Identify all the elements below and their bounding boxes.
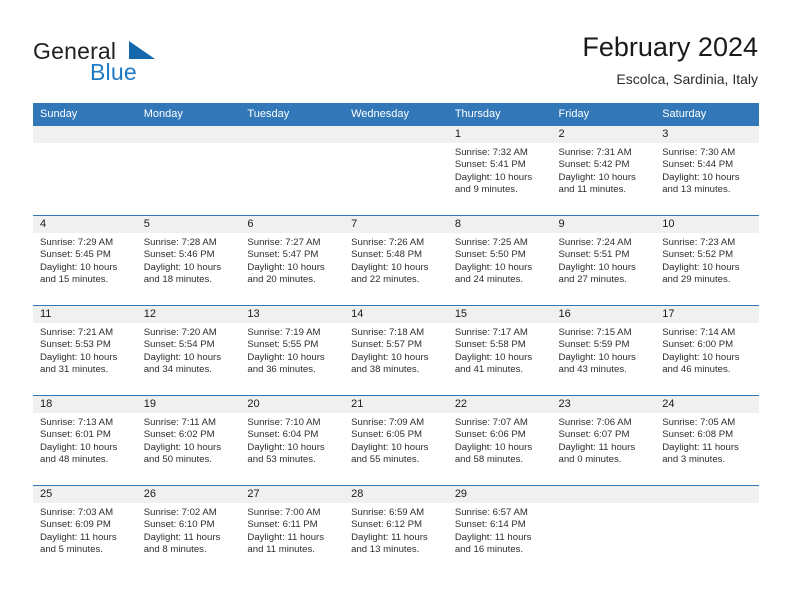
day-number — [33, 126, 137, 143]
day-number: 13 — [240, 306, 344, 323]
sunrise-text: Sunrise: 7:31 AM — [559, 147, 650, 159]
sunrise-text: Sunrise: 7:13 AM — [40, 417, 131, 429]
daylight-text-line2: and 15 minutes. — [40, 274, 131, 286]
day-details: Sunrise: 7:02 AM Sunset: 6:10 PM Dayligh… — [137, 503, 241, 556]
daylight-text-line2: and 34 minutes. — [144, 364, 235, 376]
sunrise-text: Sunrise: 7:10 AM — [247, 417, 338, 429]
daylight-text-line2: and 22 minutes. — [351, 274, 442, 286]
day-cell[interactable]: 16 Sunrise: 7:15 AM Sunset: 5:59 PM Dayl… — [552, 305, 656, 395]
day-cell[interactable] — [240, 125, 344, 215]
day-cell[interactable] — [344, 125, 448, 215]
daylight-text-line2: and 53 minutes. — [247, 454, 338, 466]
day-cell[interactable]: 15 Sunrise: 7:17 AM Sunset: 5:58 PM Dayl… — [448, 305, 552, 395]
day-cell[interactable]: 26 Sunrise: 7:02 AM Sunset: 6:10 PM Dayl… — [137, 485, 241, 575]
daylight-text-line1: Daylight: 10 hours — [559, 352, 650, 364]
day-number: 16 — [552, 306, 656, 323]
sunrise-text: Sunrise: 7:24 AM — [559, 237, 650, 249]
day-cell[interactable]: 13 Sunrise: 7:19 AM Sunset: 5:55 PM Dayl… — [240, 305, 344, 395]
day-number: 26 — [137, 486, 241, 503]
week-row: 18 Sunrise: 7:13 AM Sunset: 6:01 PM Dayl… — [33, 395, 759, 485]
day-number: 6 — [240, 216, 344, 233]
weekday-thursday: Thursday — [448, 103, 552, 125]
day-details — [552, 503, 656, 507]
day-number: 4 — [33, 216, 137, 233]
sunset-text: Sunset: 5:42 PM — [559, 159, 650, 171]
day-details: Sunrise: 7:24 AM Sunset: 5:51 PM Dayligh… — [552, 233, 656, 286]
week-row: 11 Sunrise: 7:21 AM Sunset: 5:53 PM Dayl… — [33, 305, 759, 395]
day-cell[interactable]: 7 Sunrise: 7:26 AM Sunset: 5:48 PM Dayli… — [344, 215, 448, 305]
sunrise-text: Sunrise: 7:19 AM — [247, 327, 338, 339]
sunrise-text: Sunrise: 7:21 AM — [40, 327, 131, 339]
sunset-text: Sunset: 5:45 PM — [40, 249, 131, 261]
sunset-text: Sunset: 6:11 PM — [247, 519, 338, 531]
daylight-text-line2: and 20 minutes. — [247, 274, 338, 286]
page-header: General Blue February 2024 Escolca, Sard… — [0, 0, 792, 103]
daylight-text-line1: Daylight: 10 hours — [247, 352, 338, 364]
day-details — [655, 503, 759, 507]
sunset-text: Sunset: 6:06 PM — [455, 429, 546, 441]
day-number: 7 — [344, 216, 448, 233]
daylight-text-line1: Daylight: 10 hours — [455, 442, 546, 454]
sunrise-text: Sunrise: 7:32 AM — [455, 147, 546, 159]
day-number: 12 — [137, 306, 241, 323]
daylight-text-line2: and 46 minutes. — [662, 364, 753, 376]
day-number: 18 — [33, 396, 137, 413]
day-number: 20 — [240, 396, 344, 413]
sunset-text: Sunset: 6:10 PM — [144, 519, 235, 531]
daylight-text-line2: and 41 minutes. — [455, 364, 546, 376]
day-details — [344, 143, 448, 147]
sunset-text: Sunset: 6:14 PM — [455, 519, 546, 531]
daylight-text-line1: Daylight: 11 hours — [455, 532, 546, 544]
daylight-text-line2: and 43 minutes. — [559, 364, 650, 376]
sunset-text: Sunset: 5:44 PM — [662, 159, 753, 171]
week-row: 1 Sunrise: 7:32 AM Sunset: 5:41 PM Dayli… — [33, 125, 759, 215]
day-details: Sunrise: 7:15 AM Sunset: 5:59 PM Dayligh… — [552, 323, 656, 376]
day-number: 17 — [655, 306, 759, 323]
daylight-text-line1: Daylight: 10 hours — [40, 442, 131, 454]
daylight-text-line1: Daylight: 10 hours — [559, 172, 650, 184]
day-number — [137, 126, 241, 143]
daylight-text-line2: and 3 minutes. — [662, 454, 753, 466]
sunset-text: Sunset: 6:00 PM — [662, 339, 753, 351]
daylight-text-line1: Daylight: 10 hours — [351, 352, 442, 364]
day-details: Sunrise: 7:20 AM Sunset: 5:54 PM Dayligh… — [137, 323, 241, 376]
sunrise-text: Sunrise: 7:18 AM — [351, 327, 442, 339]
day-details: Sunrise: 7:28 AM Sunset: 5:46 PM Dayligh… — [137, 233, 241, 286]
daylight-text-line1: Daylight: 11 hours — [40, 532, 131, 544]
sunrise-text: Sunrise: 7:03 AM — [40, 507, 131, 519]
day-number: 23 — [552, 396, 656, 413]
daylight-text-line1: Daylight: 10 hours — [559, 262, 650, 274]
daylight-text-line2: and 11 minutes. — [559, 184, 650, 196]
day-number: 28 — [344, 486, 448, 503]
sunset-text: Sunset: 6:04 PM — [247, 429, 338, 441]
day-cell[interactable]: 28 Sunrise: 6:59 AM Sunset: 6:12 PM Dayl… — [344, 485, 448, 575]
day-number — [240, 126, 344, 143]
day-number: 5 — [137, 216, 241, 233]
weekday-friday: Friday — [552, 103, 656, 125]
day-number: 11 — [33, 306, 137, 323]
day-cell[interactable]: 25 Sunrise: 7:03 AM Sunset: 6:09 PM Dayl… — [33, 485, 137, 575]
day-details: Sunrise: 7:03 AM Sunset: 6:09 PM Dayligh… — [33, 503, 137, 556]
day-cell[interactable]: 1 Sunrise: 7:32 AM Sunset: 5:41 PM Dayli… — [448, 125, 552, 215]
sunrise-text: Sunrise: 7:00 AM — [247, 507, 338, 519]
day-details: Sunrise: 7:14 AM Sunset: 6:00 PM Dayligh… — [655, 323, 759, 376]
daylight-text-line2: and 11 minutes. — [247, 544, 338, 556]
day-cell[interactable]: 21 Sunrise: 7:09 AM Sunset: 6:05 PM Dayl… — [344, 395, 448, 485]
daylight-text-line1: Daylight: 10 hours — [144, 262, 235, 274]
day-cell[interactable]: 10 Sunrise: 7:23 AM Sunset: 5:52 PM Dayl… — [655, 215, 759, 305]
day-details: Sunrise: 7:31 AM Sunset: 5:42 PM Dayligh… — [552, 143, 656, 196]
sunrise-text: Sunrise: 7:30 AM — [662, 147, 753, 159]
daylight-text-line2: and 31 minutes. — [40, 364, 131, 376]
sunset-text: Sunset: 6:05 PM — [351, 429, 442, 441]
sunset-text: Sunset: 6:07 PM — [559, 429, 650, 441]
day-number: 9 — [552, 216, 656, 233]
day-cell[interactable] — [552, 485, 656, 575]
title-block: February 2024 Escolca, Sardinia, Italy — [582, 30, 758, 90]
day-details: Sunrise: 7:23 AM Sunset: 5:52 PM Dayligh… — [655, 233, 759, 286]
daylight-text-line2: and 29 minutes. — [662, 274, 753, 286]
daylight-text-line2: and 13 minutes. — [662, 184, 753, 196]
day-details: Sunrise: 7:32 AM Sunset: 5:41 PM Dayligh… — [448, 143, 552, 196]
daylight-text-line1: Daylight: 11 hours — [247, 532, 338, 544]
day-details — [137, 143, 241, 147]
sunset-text: Sunset: 6:01 PM — [40, 429, 131, 441]
day-number: 14 — [344, 306, 448, 323]
weekday-sunday: Sunday — [33, 103, 137, 125]
sunset-text: Sunset: 6:08 PM — [662, 429, 753, 441]
day-number: 29 — [448, 486, 552, 503]
day-details — [240, 143, 344, 147]
day-cell[interactable]: 4 Sunrise: 7:29 AM Sunset: 5:45 PM Dayli… — [33, 215, 137, 305]
day-number: 10 — [655, 216, 759, 233]
day-cell[interactable]: 17 Sunrise: 7:14 AM Sunset: 6:00 PM Dayl… — [655, 305, 759, 395]
sunrise-text: Sunrise: 7:05 AM — [662, 417, 753, 429]
day-details: Sunrise: 7:06 AM Sunset: 6:07 PM Dayligh… — [552, 413, 656, 466]
daylight-text-line1: Daylight: 10 hours — [351, 262, 442, 274]
sunset-text: Sunset: 6:02 PM — [144, 429, 235, 441]
general-blue-logo[interactable]: General Blue — [33, 38, 263, 90]
daylight-text-line2: and 55 minutes. — [351, 454, 442, 466]
day-details: Sunrise: 7:10 AM Sunset: 6:04 PM Dayligh… — [240, 413, 344, 466]
day-cell[interactable]: 19 Sunrise: 7:11 AM Sunset: 6:02 PM Dayl… — [137, 395, 241, 485]
day-number: 8 — [448, 216, 552, 233]
sunset-text: Sunset: 5:58 PM — [455, 339, 546, 351]
day-cell[interactable]: 6 Sunrise: 7:27 AM Sunset: 5:47 PM Dayli… — [240, 215, 344, 305]
daylight-text-line2: and 9 minutes. — [455, 184, 546, 196]
daylight-text-line1: Daylight: 10 hours — [662, 172, 753, 184]
daylight-text-line1: Daylight: 10 hours — [455, 352, 546, 364]
day-details: Sunrise: 7:30 AM Sunset: 5:44 PM Dayligh… — [655, 143, 759, 196]
daylight-text-line2: and 0 minutes. — [559, 454, 650, 466]
daylight-text-line1: Daylight: 10 hours — [455, 172, 546, 184]
daylight-text-line1: Daylight: 10 hours — [40, 262, 131, 274]
day-details: Sunrise: 6:59 AM Sunset: 6:12 PM Dayligh… — [344, 503, 448, 556]
day-cell[interactable]: 18 Sunrise: 7:13 AM Sunset: 6:01 PM Dayl… — [33, 395, 137, 485]
sunset-text: Sunset: 5:53 PM — [40, 339, 131, 351]
sunrise-text: Sunrise: 7:11 AM — [144, 417, 235, 429]
day-cell[interactable]: 5 Sunrise: 7:28 AM Sunset: 5:46 PM Dayli… — [137, 215, 241, 305]
page-subtitle: Escolca, Sardinia, Italy — [582, 68, 758, 90]
daylight-text-line1: Daylight: 10 hours — [351, 442, 442, 454]
sunrise-text: Sunrise: 7:29 AM — [40, 237, 131, 249]
day-cell[interactable]: 14 Sunrise: 7:18 AM Sunset: 5:57 PM Dayl… — [344, 305, 448, 395]
sunrise-text: Sunrise: 7:15 AM — [559, 327, 650, 339]
calendar-grid: Sunday Monday Tuesday Wednesday Thursday… — [33, 103, 759, 575]
day-details: Sunrise: 7:00 AM Sunset: 6:11 PM Dayligh… — [240, 503, 344, 556]
day-details: Sunrise: 7:19 AM Sunset: 5:55 PM Dayligh… — [240, 323, 344, 376]
daylight-text-line1: Daylight: 11 hours — [559, 442, 650, 454]
daylight-text-line1: Daylight: 11 hours — [144, 532, 235, 544]
daylight-text-line1: Daylight: 10 hours — [247, 262, 338, 274]
day-number: 2 — [552, 126, 656, 143]
daylight-text-line2: and 36 minutes. — [247, 364, 338, 376]
weekday-header-row: Sunday Monday Tuesday Wednesday Thursday… — [33, 103, 759, 125]
sunrise-text: Sunrise: 7:09 AM — [351, 417, 442, 429]
daylight-text-line2: and 8 minutes. — [144, 544, 235, 556]
sunrise-text: Sunrise: 7:02 AM — [144, 507, 235, 519]
weekday-wednesday: Wednesday — [344, 103, 448, 125]
day-number: 15 — [448, 306, 552, 323]
sunset-text: Sunset: 5:54 PM — [144, 339, 235, 351]
sunrise-text: Sunrise: 7:20 AM — [144, 327, 235, 339]
day-details: Sunrise: 7:13 AM Sunset: 6:01 PM Dayligh… — [33, 413, 137, 466]
day-details: Sunrise: 7:07 AM Sunset: 6:06 PM Dayligh… — [448, 413, 552, 466]
daylight-text-line1: Daylight: 10 hours — [455, 262, 546, 274]
sunset-text: Sunset: 6:09 PM — [40, 519, 131, 531]
logo-text-blue: Blue — [90, 59, 137, 86]
daylight-text-line1: Daylight: 10 hours — [662, 352, 753, 364]
day-details: Sunrise: 6:57 AM Sunset: 6:14 PM Dayligh… — [448, 503, 552, 556]
daylight-text-line2: and 38 minutes. — [351, 364, 442, 376]
sunrise-text: Sunrise: 7:23 AM — [662, 237, 753, 249]
day-details: Sunrise: 7:27 AM Sunset: 5:47 PM Dayligh… — [240, 233, 344, 286]
sunrise-text: Sunrise: 7:25 AM — [455, 237, 546, 249]
day-number — [344, 126, 448, 143]
day-cell[interactable] — [137, 125, 241, 215]
day-details: Sunrise: 7:25 AM Sunset: 5:50 PM Dayligh… — [448, 233, 552, 286]
sunset-text: Sunset: 5:59 PM — [559, 339, 650, 351]
day-cell[interactable]: 8 Sunrise: 7:25 AM Sunset: 5:50 PM Dayli… — [448, 215, 552, 305]
day-number: 25 — [33, 486, 137, 503]
weekday-monday: Monday — [137, 103, 241, 125]
day-number — [552, 486, 656, 503]
day-number: 22 — [448, 396, 552, 413]
day-number: 21 — [344, 396, 448, 413]
day-cell[interactable]: 29 Sunrise: 6:57 AM Sunset: 6:14 PM Dayl… — [448, 485, 552, 575]
daylight-text-line2: and 27 minutes. — [559, 274, 650, 286]
page-title: February 2024 — [582, 30, 758, 64]
sunrise-text: Sunrise: 7:27 AM — [247, 237, 338, 249]
sunset-text: Sunset: 5:52 PM — [662, 249, 753, 261]
day-cell[interactable] — [655, 485, 759, 575]
sunrise-text: Sunrise: 7:28 AM — [144, 237, 235, 249]
sunrise-text: Sunrise: 7:06 AM — [559, 417, 650, 429]
daylight-text-line2: and 58 minutes. — [455, 454, 546, 466]
day-cell[interactable]: 27 Sunrise: 7:00 AM Sunset: 6:11 PM Dayl… — [240, 485, 344, 575]
day-details: Sunrise: 7:18 AM Sunset: 5:57 PM Dayligh… — [344, 323, 448, 376]
week-row: 25 Sunrise: 7:03 AM Sunset: 6:09 PM Dayl… — [33, 485, 759, 575]
daylight-text-line2: and 13 minutes. — [351, 544, 442, 556]
sunrise-text: Sunrise: 6:57 AM — [455, 507, 546, 519]
daylight-text-line2: and 18 minutes. — [144, 274, 235, 286]
day-number: 27 — [240, 486, 344, 503]
daylight-text-line1: Daylight: 10 hours — [144, 442, 235, 454]
sunrise-text: Sunrise: 7:14 AM — [662, 327, 753, 339]
day-details — [33, 143, 137, 147]
sunset-text: Sunset: 5:46 PM — [144, 249, 235, 261]
day-cell[interactable]: 11 Sunrise: 7:21 AM Sunset: 5:53 PM Dayl… — [33, 305, 137, 395]
sunset-text: Sunset: 5:51 PM — [559, 249, 650, 261]
day-cell[interactable] — [33, 125, 137, 215]
weekday-saturday: Saturday — [655, 103, 759, 125]
day-number: 1 — [448, 126, 552, 143]
daylight-text-line1: Daylight: 10 hours — [247, 442, 338, 454]
day-cell[interactable]: 9 Sunrise: 7:24 AM Sunset: 5:51 PM Dayli… — [552, 215, 656, 305]
sunset-text: Sunset: 5:48 PM — [351, 249, 442, 261]
daylight-text-line2: and 16 minutes. — [455, 544, 546, 556]
sunrise-text: Sunrise: 7:26 AM — [351, 237, 442, 249]
day-details: Sunrise: 7:05 AM Sunset: 6:08 PM Dayligh… — [655, 413, 759, 466]
sunrise-text: Sunrise: 6:59 AM — [351, 507, 442, 519]
day-details: Sunrise: 7:26 AM Sunset: 5:48 PM Dayligh… — [344, 233, 448, 286]
day-cell[interactable]: 23 Sunrise: 7:06 AM Sunset: 6:07 PM Dayl… — [552, 395, 656, 485]
day-number — [655, 486, 759, 503]
sunrise-text: Sunrise: 7:17 AM — [455, 327, 546, 339]
daylight-text-line1: Daylight: 11 hours — [662, 442, 753, 454]
daylight-text-line1: Daylight: 10 hours — [40, 352, 131, 364]
day-cell[interactable]: 3 Sunrise: 7:30 AM Sunset: 5:44 PM Dayli… — [655, 125, 759, 215]
day-cell[interactable]: 12 Sunrise: 7:20 AM Sunset: 5:54 PM Dayl… — [137, 305, 241, 395]
sunrise-text: Sunrise: 7:07 AM — [455, 417, 546, 429]
day-cell[interactable]: 22 Sunrise: 7:07 AM Sunset: 6:06 PM Dayl… — [448, 395, 552, 485]
day-cell[interactable]: 2 Sunrise: 7:31 AM Sunset: 5:42 PM Dayli… — [552, 125, 656, 215]
sunset-text: Sunset: 5:50 PM — [455, 249, 546, 261]
daylight-text-line2: and 24 minutes. — [455, 274, 546, 286]
weekday-tuesday: Tuesday — [240, 103, 344, 125]
daylight-text-line1: Daylight: 11 hours — [351, 532, 442, 544]
calendar-page: General Blue February 2024 Escolca, Sard… — [0, 0, 792, 612]
day-details: Sunrise: 7:09 AM Sunset: 6:05 PM Dayligh… — [344, 413, 448, 466]
daylight-text-line2: and 48 minutes. — [40, 454, 131, 466]
daylight-text-line1: Daylight: 10 hours — [662, 262, 753, 274]
day-details: Sunrise: 7:29 AM Sunset: 5:45 PM Dayligh… — [33, 233, 137, 286]
day-details: Sunrise: 7:11 AM Sunset: 6:02 PM Dayligh… — [137, 413, 241, 466]
sunset-text: Sunset: 5:41 PM — [455, 159, 546, 171]
day-cell[interactable]: 20 Sunrise: 7:10 AM Sunset: 6:04 PM Dayl… — [240, 395, 344, 485]
day-number: 3 — [655, 126, 759, 143]
day-number: 19 — [137, 396, 241, 413]
day-details: Sunrise: 7:17 AM Sunset: 5:58 PM Dayligh… — [448, 323, 552, 376]
daylight-text-line2: and 50 minutes. — [144, 454, 235, 466]
week-row: 4 Sunrise: 7:29 AM Sunset: 5:45 PM Dayli… — [33, 215, 759, 305]
sunset-text: Sunset: 5:57 PM — [351, 339, 442, 351]
day-details: Sunrise: 7:21 AM Sunset: 5:53 PM Dayligh… — [33, 323, 137, 376]
sunset-text: Sunset: 5:47 PM — [247, 249, 338, 261]
daylight-text-line1: Daylight: 10 hours — [144, 352, 235, 364]
sunset-text: Sunset: 5:55 PM — [247, 339, 338, 351]
daylight-text-line2: and 5 minutes. — [40, 544, 131, 556]
day-number: 24 — [655, 396, 759, 413]
sunset-text: Sunset: 6:12 PM — [351, 519, 442, 531]
day-cell[interactable]: 24 Sunrise: 7:05 AM Sunset: 6:08 PM Dayl… — [655, 395, 759, 485]
triangle-icon — [129, 41, 155, 59]
